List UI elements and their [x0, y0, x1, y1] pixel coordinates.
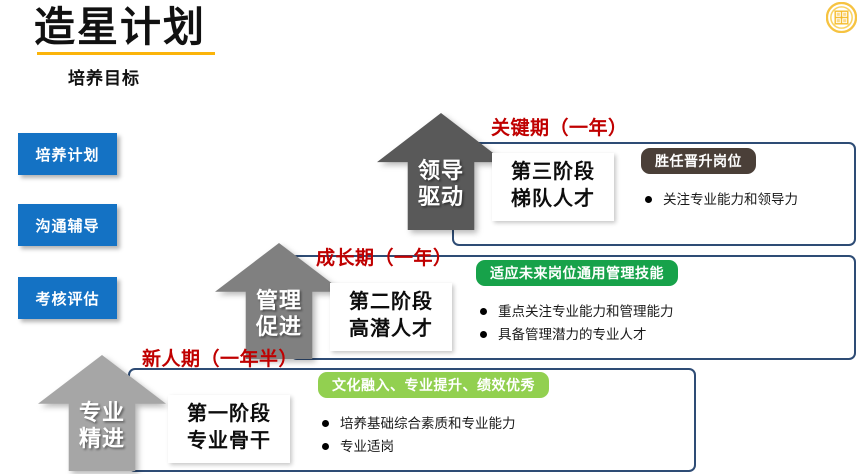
page-subtitle: 培养目标 [68, 64, 215, 89]
stage-3-line2: 梯队人才 [502, 186, 604, 213]
stage-2-badge-label: 适应未来岗位通用管理技能 [490, 263, 664, 283]
bullet-text: 培养基础综合素质和专业能力 [340, 413, 516, 434]
bullet-text: 专业适岗 [340, 436, 394, 457]
slide-canvas: 造星计划 培养目标 培养计划 沟通辅导 考核评估 胜任晋升岗位 关 [0, 0, 865, 474]
sidebar-item-communication-coaching[interactable]: 沟通辅导 [18, 204, 117, 246]
arrow-label-line1: 管理 [215, 288, 343, 314]
arrow-label-line2: 驱动 [377, 184, 505, 210]
list-item: 关注专业能力和领导力 [645, 189, 798, 210]
sidebar-item-label: 考核评估 [35, 288, 99, 309]
stage-1-arrow-label: 专业 精进 [38, 400, 166, 452]
bullet-dot-icon [480, 331, 487, 338]
list-item: 重点关注专业能力和管理能力 [480, 301, 674, 322]
bullet-dot-icon [645, 196, 652, 203]
bullet-text: 关注专业能力和领导力 [663, 189, 798, 210]
stage-2-title-box: 第二阶段 高潜人才 [330, 283, 452, 351]
stage-2-line2: 高潜人才 [340, 316, 442, 343]
sidebar-item-training-plan[interactable]: 培养计划 [18, 133, 117, 175]
bullet-text: 重点关注专业能力和管理能力 [498, 301, 674, 322]
stage-1-period-label: 新人期（一年半） [142, 344, 298, 371]
stage-1-title-box: 第一阶段 专业骨干 [168, 395, 290, 463]
bullet-dot-icon [322, 420, 329, 427]
stage-2-badge: 适应未来岗位通用管理技能 [476, 260, 678, 286]
stage-1-badge-label: 文化融入、专业提升、绩效优秀 [332, 375, 535, 395]
stage-2-bullet-list: 重点关注专业能力和管理能力 具备管理潜力的专业人才 [480, 301, 674, 347]
stage-3-title-box: 第三阶段 梯队人才 [492, 153, 614, 221]
stage-1-bullet-list: 培养基础综合素质和专业能力 专业适岗 [322, 413, 516, 459]
title-underline-rule [37, 52, 215, 55]
stage-1-badge: 文化融入、专业提升、绩效优秀 [318, 372, 549, 398]
sidebar-item-assessment-evaluation[interactable]: 考核评估 [18, 277, 117, 319]
sidebar-item-label: 培养计划 [35, 144, 99, 165]
stage-2-line1: 第二阶段 [340, 289, 442, 316]
bullet-dot-icon [322, 443, 329, 450]
page-title: 造星计划 [34, 4, 215, 51]
stage-1-line2: 专业骨干 [178, 428, 280, 455]
bullet-text: 具备管理潜力的专业人才 [498, 324, 647, 345]
sidebar-item-label: 沟通辅导 [35, 215, 99, 236]
stage-3-line1: 第三阶段 [502, 159, 604, 186]
arrow-label-line2: 促进 [215, 314, 343, 340]
stage-3-period-label: 关键期（一年） [491, 113, 628, 140]
list-item: 具备管理潜力的专业人才 [480, 324, 674, 345]
stage-3-badge: 胜任晋升岗位 [641, 148, 756, 174]
list-item: 培养基础综合素质和专业能力 [322, 413, 516, 434]
company-circle-logo-icon [826, 2, 857, 33]
stage-1-line1: 第一阶段 [178, 401, 280, 428]
stage-2-arrow-label: 管理 促进 [215, 288, 343, 340]
arrow-label-line1: 领导 [377, 158, 505, 184]
stage-3-badge-label: 胜任晋升岗位 [655, 151, 742, 171]
stage-3-bullet-list: 关注专业能力和领导力 [645, 189, 798, 212]
arrow-label-line1: 专业 [38, 400, 166, 426]
stage-2-period-label: 成长期（一年） [316, 243, 453, 270]
bullet-dot-icon [480, 308, 487, 315]
stage-3-arrow-label: 领导 驱动 [377, 158, 505, 210]
arrow-label-line2: 精进 [38, 426, 166, 452]
stage-3-arrow: 领导 驱动 [377, 113, 505, 230]
stage-1-arrow: 专业 精进 [38, 355, 166, 471]
title-block: 造星计划 培养目标 [34, 4, 215, 89]
list-item: 专业适岗 [322, 436, 516, 457]
